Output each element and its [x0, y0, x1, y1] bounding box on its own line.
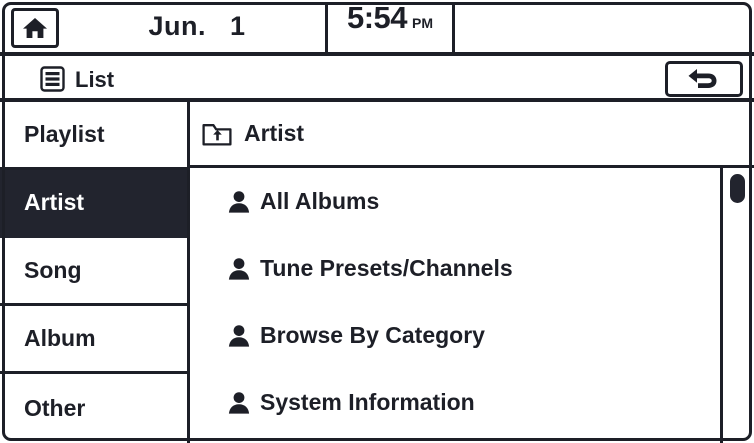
list-panel: Artist All Albums Tune Presets/Channels	[190, 102, 754, 443]
list-item[interactable]: All Albums	[190, 168, 754, 235]
clock-meridiem: PM	[412, 15, 433, 31]
clock-display: 5:54 PM	[330, 0, 450, 52]
person-icon	[228, 190, 250, 214]
list-item-label: Browse By Category	[260, 322, 485, 349]
sidebar-item-label: Album	[24, 325, 96, 352]
person-icon	[228, 257, 250, 281]
sidebar-item-song[interactable]: Song	[0, 238, 187, 306]
sidebar-item-label: Other	[24, 395, 85, 422]
list-item-label: System Information	[260, 389, 475, 416]
list-item[interactable]: Browse By Category	[190, 302, 754, 369]
list-scrollbar[interactable]	[720, 168, 746, 443]
scrollbar-thumb[interactable]	[730, 174, 745, 203]
home-icon	[22, 16, 48, 40]
back-button[interactable]	[665, 61, 743, 97]
clock-time: 5:54	[347, 0, 407, 36]
sidebar-item-playlist[interactable]: Playlist	[0, 102, 187, 170]
folder-up-icon	[202, 121, 232, 147]
sidebar-item-label: Artist	[24, 189, 84, 216]
list-item-label: All Albums	[260, 188, 379, 215]
date-display: Jun. 1	[72, 0, 322, 52]
date-text: Jun. 1	[148, 11, 245, 42]
list-item-label: Tune Presets/Channels	[260, 255, 513, 282]
back-arrow-icon	[684, 66, 724, 92]
category-sidebar: Playlist Artist Song Album Other	[0, 102, 190, 443]
content-area: Playlist Artist Song Album Other	[0, 102, 754, 443]
person-icon	[228, 391, 250, 415]
list-item[interactable]: System Information	[190, 369, 754, 436]
page-title: List	[75, 67, 114, 93]
statusbar-empty-cell	[455, 0, 754, 52]
person-icon	[228, 324, 250, 348]
title-bar: List	[0, 56, 754, 102]
status-bar: Jun. 1 5:54 PM	[0, 0, 754, 56]
sidebar-item-label: Playlist	[24, 121, 105, 148]
sidebar-item-other[interactable]: Other	[0, 374, 187, 442]
list-item[interactable]: Tune Presets/Channels	[190, 235, 754, 302]
statusbar-divider-1	[325, 4, 328, 52]
infotainment-screen: Jun. 1 5:54 PM List Playlist	[0, 0, 754, 443]
breadcrumb-label: Artist	[244, 120, 304, 147]
breadcrumb[interactable]: Artist	[190, 102, 754, 168]
sidebar-item-album[interactable]: Album	[0, 306, 187, 374]
list-icon	[40, 66, 65, 92]
sidebar-item-artist[interactable]: Artist	[0, 170, 187, 238]
sidebar-item-label: Song	[24, 257, 82, 284]
list-rows: All Albums Tune Presets/Channels Browse …	[190, 168, 754, 443]
home-button[interactable]	[11, 8, 59, 48]
